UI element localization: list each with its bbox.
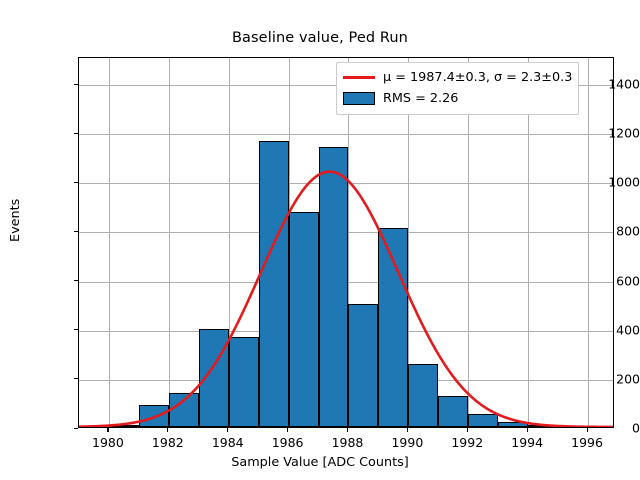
y-tick-label: 600: [573, 273, 640, 288]
x-tick-mark: [167, 428, 168, 432]
x-tick-label: 1996: [571, 435, 603, 450]
gridline-x-1982: [169, 58, 170, 427]
chart-title: Baseline value, Ped Run: [0, 30, 640, 46]
legend-patch-swatch-icon: [343, 92, 375, 105]
x-tick-label: 1990: [391, 435, 423, 450]
x-tick-label: 1994: [511, 435, 543, 450]
x-tick-mark: [407, 428, 408, 432]
histogram-bar: [438, 396, 468, 427]
y-tick-mark: [74, 84, 78, 85]
x-tick-label: 1984: [212, 435, 244, 450]
chart-legend: μ = 1987.4±0.3, σ = 2.3±0.3 RMS = 2.26: [336, 62, 579, 115]
x-tick-mark: [287, 428, 288, 432]
y-tick-mark: [74, 182, 78, 183]
histogram-bar: [498, 422, 528, 427]
legend-line-swatch-icon: [343, 76, 375, 78]
x-axis-label: Sample Value [ADC Counts]: [0, 455, 640, 470]
y-tick-mark: [74, 329, 78, 330]
y-tick-label: 200: [573, 371, 640, 386]
y-tick-label: 1000: [573, 175, 640, 190]
histogram-bar: [319, 147, 349, 427]
legend-item-fit: μ = 1987.4±0.3, σ = 2.3±0.3: [343, 67, 572, 88]
y-tick-label: 1400: [573, 77, 640, 92]
legend-label-rms: RMS = 2.26: [383, 91, 458, 106]
legend-label-fit: μ = 1987.4±0.3, σ = 2.3±0.3: [383, 70, 572, 85]
histogram-bar: [109, 425, 139, 427]
histogram-bar: [259, 141, 289, 427]
histogram-bar: [408, 364, 438, 427]
y-tick-label: 400: [573, 322, 640, 337]
histogram-bar: [468, 414, 498, 428]
legend-item-rms: RMS = 2.26: [343, 88, 572, 109]
x-tick-mark: [227, 428, 228, 432]
histogram-bar: [139, 405, 169, 427]
histogram-bar: [348, 304, 378, 427]
x-tick-mark: [347, 428, 348, 432]
y-axis-label: Events: [8, 199, 23, 242]
x-tick-label: 1988: [332, 435, 364, 450]
gridline-y-1200: [79, 134, 613, 135]
histogram-bar: [289, 212, 319, 427]
x-tick-label: 1992: [451, 435, 483, 450]
y-tick-label: 800: [573, 224, 640, 239]
y-tick-label: 1200: [573, 126, 640, 141]
histogram-bar: [528, 425, 558, 427]
y-tick-mark: [74, 133, 78, 134]
histogram-bar: [199, 329, 229, 427]
x-tick-mark: [107, 428, 108, 432]
y-tick-mark: [74, 378, 78, 379]
x-tick-mark: [587, 428, 588, 432]
y-tick-mark: [74, 231, 78, 232]
histogram-bar: [378, 228, 408, 427]
x-tick-mark: [467, 428, 468, 432]
x-tick-label: 1980: [92, 435, 124, 450]
chart-figure: Baseline value, Ped Run Events Sample Va…: [0, 0, 640, 480]
histogram-bar: [229, 337, 259, 427]
y-tick-mark: [74, 280, 78, 281]
x-tick-label: 1986: [272, 435, 304, 450]
y-tick-label: 0: [573, 421, 640, 436]
gridline-x-1980: [109, 58, 110, 427]
histogram-bar: [169, 393, 199, 427]
y-tick-mark: [74, 428, 78, 429]
x-tick-mark: [527, 428, 528, 432]
x-tick-label: 1982: [152, 435, 184, 450]
